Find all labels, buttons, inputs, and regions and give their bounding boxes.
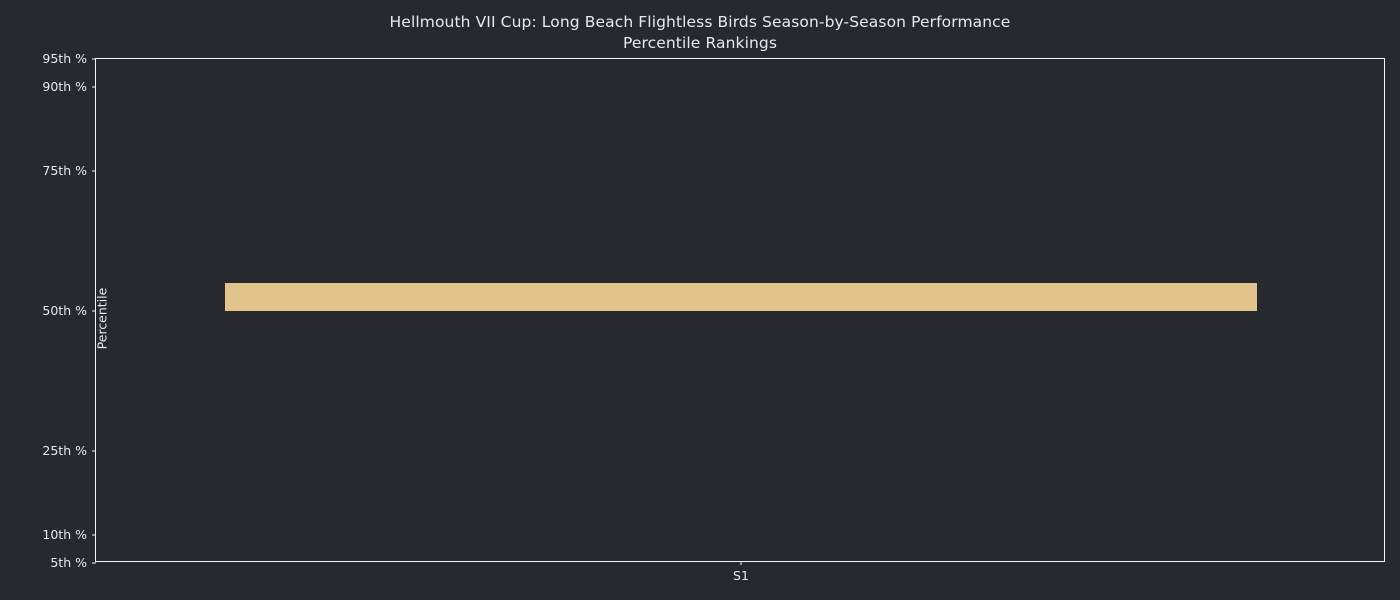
y-axis-tick-label: 90th % xyxy=(42,81,96,94)
y-axis-tick-label: 50th % xyxy=(42,305,96,318)
y-axis-tick-label: 25th % xyxy=(42,445,96,458)
plot-area: Percentile 5th %10th %25th %50th %75th %… xyxy=(95,58,1385,562)
chart-figure: Hellmouth VII Cup: Long Beach Flightless… xyxy=(0,0,1400,600)
y-axis-tick-label: 95th % xyxy=(42,53,96,66)
bar xyxy=(225,283,1257,311)
y-axis-tick-label: 5th % xyxy=(50,557,96,570)
x-axis-tick-mark xyxy=(741,561,742,565)
chart-title: Hellmouth VII Cup: Long Beach Flightless… xyxy=(0,12,1400,54)
chart-title-line-2: Percentile Rankings xyxy=(0,33,1400,54)
y-axis-tick-mark xyxy=(92,563,96,564)
chart-title-line-1: Hellmouth VII Cup: Long Beach Flightless… xyxy=(0,12,1400,33)
x-axis-tick-label: S1 xyxy=(733,570,749,583)
y-axis-tick-label: 10th % xyxy=(42,529,96,542)
y-axis-tick-label: 75th % xyxy=(42,165,96,178)
bar-series xyxy=(96,59,1384,561)
